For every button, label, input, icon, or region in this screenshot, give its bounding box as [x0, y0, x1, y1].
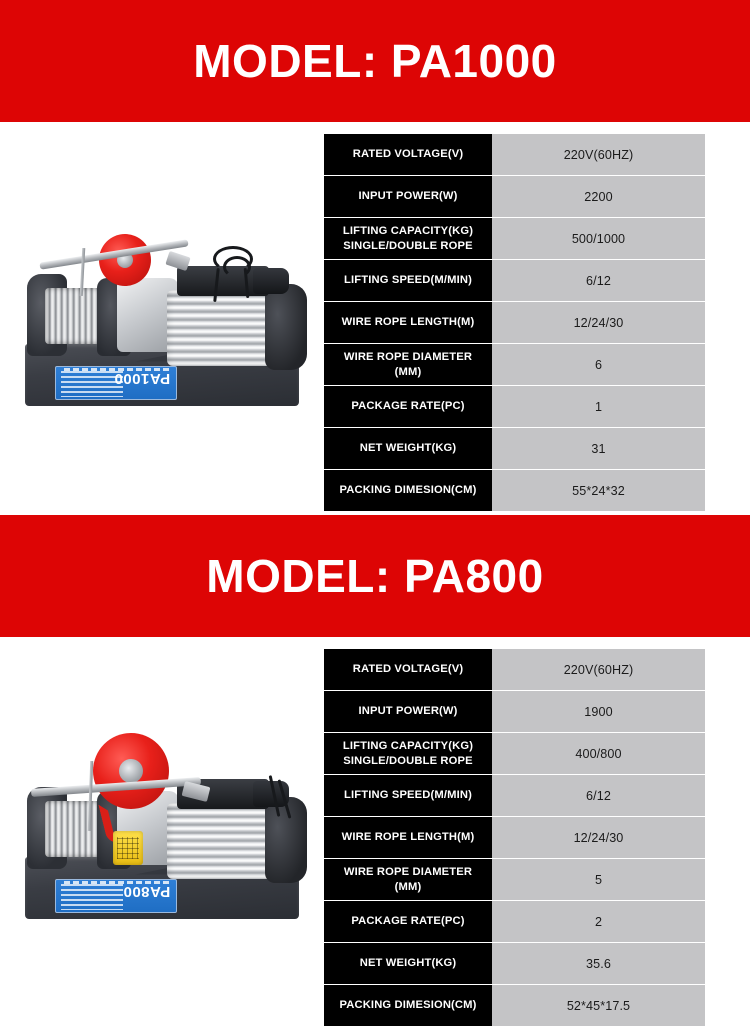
- table-row: PACKAGE RATE(PC) 1: [324, 386, 705, 427]
- spec-value: 55*24*32: [492, 470, 705, 511]
- banner-title: MODEL: PA800: [206, 553, 543, 599]
- spec-value: 5: [492, 859, 705, 900]
- spec-label: RATED VOLTAGE(V): [324, 134, 492, 175]
- product-section-pa1000: PA1000 RATED VOLTAGE(V) 220V(60HZ) INPUT…: [0, 122, 750, 515]
- spec-label: WIRE ROPE LENGTH(M): [324, 302, 492, 343]
- table-row: PACKAGE RATE(PC) 2: [324, 901, 705, 942]
- table-row: PACKING DIMESION(CM) 55*24*32: [324, 470, 705, 511]
- table-row: LIFTING CAPACITY(KG)SINGLE/DOUBLE ROPE 5…: [324, 218, 705, 259]
- table-row: WIRE ROPE LENGTH(M) 12/24/30: [324, 302, 705, 343]
- model-banner-pa800: MODEL: PA800: [0, 515, 750, 637]
- spec-label: LIFTING SPEED(M/MIN): [324, 775, 492, 816]
- spec-value: 6: [492, 344, 705, 385]
- spec-label: INPUT POWER(W): [324, 691, 492, 732]
- terminal-cover: [253, 268, 289, 294]
- motor-fan-cover: [265, 284, 307, 370]
- spec-table-wrapper-pa800: RATED VOLTAGE(V) 220V(60HZ) INPUT POWER(…: [324, 637, 750, 1026]
- spec-value: 500/1000: [492, 218, 705, 259]
- spec-label: WIRE ROPE DIAMETER(MM): [324, 344, 492, 385]
- spec-value: 52*45*17.5: [492, 985, 705, 1026]
- hoist-illustration: PA800: [17, 737, 307, 927]
- spec-label: PACKING DIMESION(CM): [324, 985, 492, 1026]
- table-row: RATED VOLTAGE(V) 220V(60HZ): [324, 649, 705, 690]
- spec-value: 1900: [492, 691, 705, 732]
- nameplate-model-text: PA1000: [114, 371, 170, 386]
- spec-label: INPUT POWER(W): [324, 176, 492, 217]
- table-row: INPUT POWER(W) 2200: [324, 176, 705, 217]
- spec-value: 2200: [492, 176, 705, 217]
- spec-table-pa1000: RATED VOLTAGE(V) 220V(60HZ) INPUT POWER(…: [324, 133, 705, 512]
- spec-label: NET WEIGHT(KG): [324, 943, 492, 984]
- spec-label: LIFTING CAPACITY(KG)SINGLE/DOUBLE ROPE: [324, 733, 492, 774]
- spec-value: 1: [492, 386, 705, 427]
- spec-value: 2: [492, 901, 705, 942]
- control-box-grille: [117, 837, 139, 859]
- spec-label: PACKING DIMESION(CM): [324, 470, 492, 511]
- table-row: LIFTING SPEED(M/MIN) 6/12: [324, 260, 705, 301]
- spec-label: PACKAGE RATE(PC): [324, 386, 492, 427]
- table-row: RATED VOLTAGE(V) 220V(60HZ): [324, 134, 705, 175]
- table-row: INPUT POWER(W) 1900: [324, 691, 705, 732]
- table-row: WIRE ROPE DIAMETER(MM) 6: [324, 344, 705, 385]
- pulley-hub: [119, 759, 143, 783]
- nameplate-label: PA800: [55, 879, 177, 913]
- spec-value: 6/12: [492, 775, 705, 816]
- hoist-illustration: PA1000: [17, 224, 307, 414]
- spec-value: 6/12: [492, 260, 705, 301]
- spec-label: LIFTING SPEED(M/MIN): [324, 260, 492, 301]
- spec-value: 400/800: [492, 733, 705, 774]
- table-row: LIFTING SPEED(M/MIN) 6/12: [324, 775, 705, 816]
- table-row: WIRE ROPE DIAMETER(MM) 5: [324, 859, 705, 900]
- spec-label: LIFTING CAPACITY(KG)SINGLE/DOUBLE ROPE: [324, 218, 492, 259]
- nameplate-label: PA1000: [55, 366, 177, 400]
- spec-value: 220V(60HZ): [492, 134, 705, 175]
- table-row: NET WEIGHT(KG) 31: [324, 428, 705, 469]
- table-row: NET WEIGHT(KG) 35.6: [324, 943, 705, 984]
- spec-label: RATED VOLTAGE(V): [324, 649, 492, 690]
- spec-value: 35.6: [492, 943, 705, 984]
- product-photo-pa800: PA800: [0, 637, 324, 1026]
- nameplate-spec-lines: [61, 884, 123, 910]
- table-row: PACKING DIMESION(CM) 52*45*17.5: [324, 985, 705, 1026]
- spec-label: WIRE ROPE DIAMETER(MM): [324, 859, 492, 900]
- spec-table-wrapper-pa1000: RATED VOLTAGE(V) 220V(60HZ) INPUT POWER(…: [324, 122, 750, 515]
- spec-label: NET WEIGHT(KG): [324, 428, 492, 469]
- spec-value: 12/24/30: [492, 302, 705, 343]
- nameplate-model-text: PA800: [123, 884, 170, 899]
- spec-value: 12/24/30: [492, 817, 705, 858]
- spec-table-pa800: RATED VOLTAGE(V) 220V(60HZ) INPUT POWER(…: [324, 648, 705, 1027]
- spec-label: WIRE ROPE LENGTH(M): [324, 817, 492, 858]
- banner-title: MODEL: PA1000: [193, 38, 557, 84]
- model-banner-pa1000: MODEL: PA1000: [0, 0, 750, 122]
- product-photo-pa1000: PA1000: [0, 122, 324, 515]
- motor-finned-body: [167, 290, 279, 366]
- product-section-pa800: PA800 RATED VOLTAGE(V) 220V(60HZ) INPUT …: [0, 637, 750, 1026]
- spec-value: 31: [492, 428, 705, 469]
- lever-joint: [165, 250, 190, 270]
- spec-label: PACKAGE RATE(PC): [324, 901, 492, 942]
- motor-finned-body: [167, 803, 279, 879]
- spec-value: 220V(60HZ): [492, 649, 705, 690]
- table-row: LIFTING CAPACITY(KG)SINGLE/DOUBLE ROPE 4…: [324, 733, 705, 774]
- table-row: WIRE ROPE LENGTH(M) 12/24/30: [324, 817, 705, 858]
